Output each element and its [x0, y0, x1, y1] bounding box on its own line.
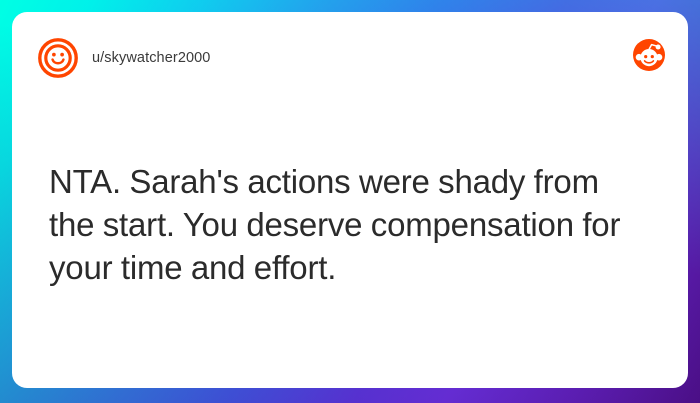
username-label: u/skywatcher2000	[92, 50, 210, 66]
post-body-text: NTA. Sarah's actions were shady from the…	[49, 160, 648, 289]
gradient-background: u/skywatcher2000 NTA. Sarah's actions we…	[0, 0, 700, 403]
reddit-snoo-logo-icon	[632, 38, 666, 72]
card-header: u/skywatcher2000	[38, 36, 666, 80]
reddit-comment-card: u/skywatcher2000 NTA. Sarah's actions we…	[12, 12, 688, 388]
smiley-face-avatar-icon	[38, 38, 78, 78]
